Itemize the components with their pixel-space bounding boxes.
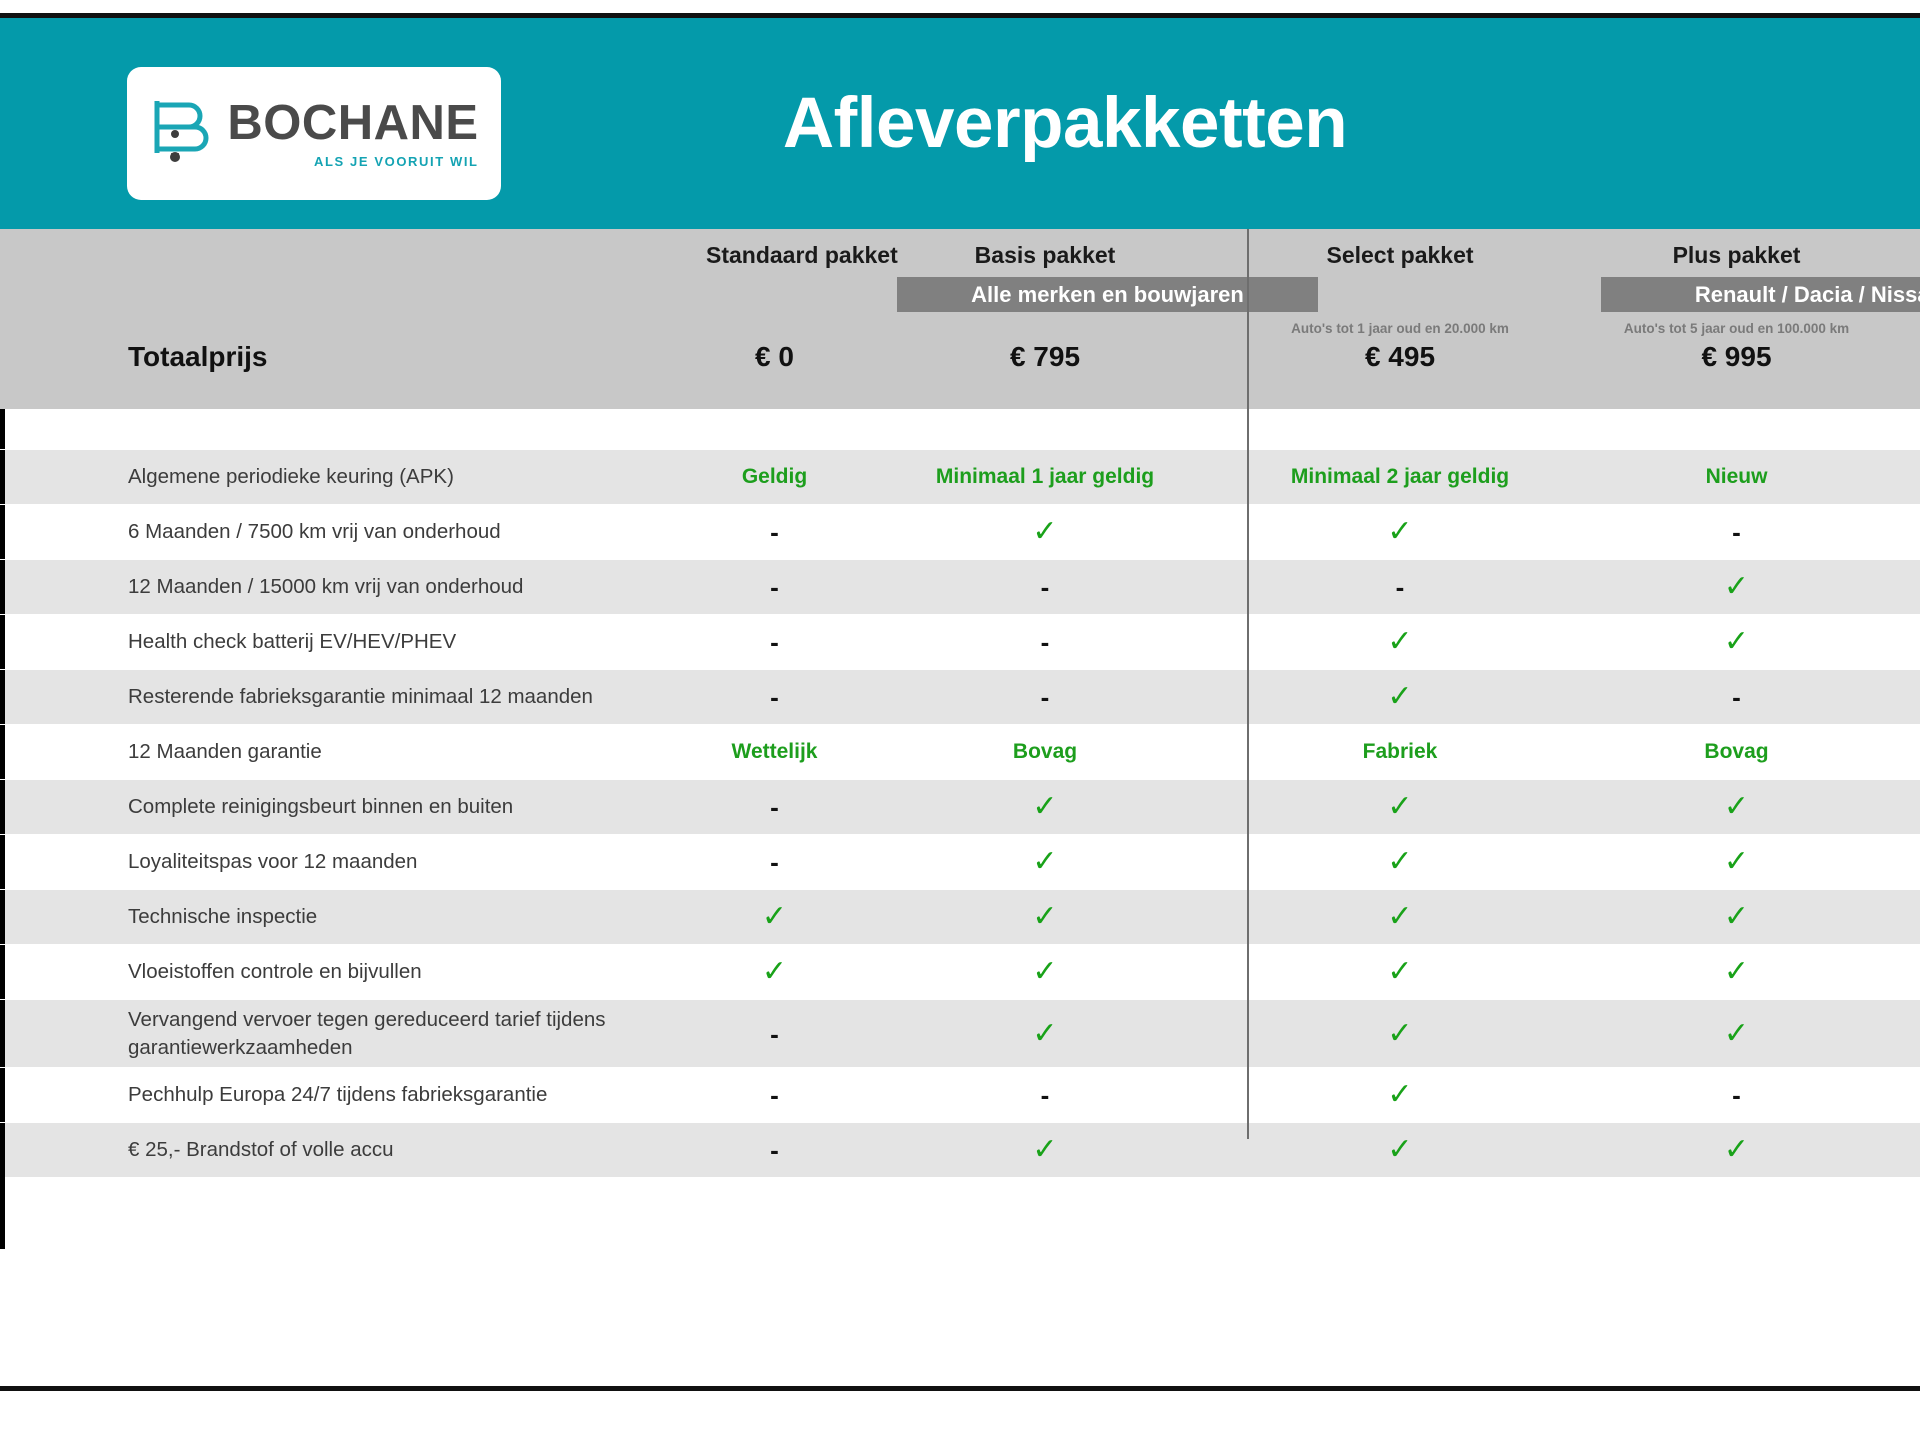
value-text: Bovag [1704,740,1768,764]
feature-value-cell: - [1247,560,1553,614]
feature-value-cell: ✓ [1553,835,1920,889]
feature-value-cell: - [706,560,843,614]
check-icon: ✓ [1387,792,1412,822]
feature-value-cell: - [1553,1068,1920,1122]
table-group-divider [1247,409,1249,1139]
feature-label: Vervangend vervoer tegen gereduceerd tar… [0,1000,706,1067]
feature-value-cell: - [843,1068,1247,1122]
left-edge-tick [0,615,5,669]
table-row: Pechhulp Europa 24/7 tijdens fabrieksgar… [0,1067,1920,1122]
feature-value-cell: ✓ [1247,945,1553,999]
check-icon: ✓ [1032,902,1057,932]
table-row: Resterende fabrieksgarantie minimaal 12 … [0,669,1920,724]
feature-value-cell: ✓ [843,890,1247,944]
feature-value-cell: ✓ [1553,780,1920,834]
value-text: Bovag [1013,740,1077,764]
feature-value-cell: ✓ [1553,615,1920,669]
feature-label: Pechhulp Europa 24/7 tijdens fabrieksgar… [0,1068,706,1122]
check-icon: ✓ [1032,957,1057,987]
left-edge-tick [0,780,5,834]
dash-icon: - [1041,629,1050,655]
check-icon: ✓ [1724,957,1749,987]
age-note-plus: Auto's tot 5 jaar oud en 100.000 km [1553,321,1920,336]
table-row: Algemene periodieke keuring (APK)GeldigM… [0,449,1920,504]
dash-icon: - [1732,684,1741,710]
feature-value-cell: - [706,780,843,834]
column-header-plus: Plus pakket Renault / Dacia / Nissan / M… [1553,229,1920,409]
feature-value-cell: Bovag [1553,725,1920,779]
feature-value-cell: - [706,670,843,724]
left-edge-tick [0,670,5,724]
value-text: Wettelijk [732,740,818,764]
feature-value-cell: Geldig [706,450,843,504]
feature-value-cell: ✓ [1553,890,1920,944]
table-row: Loyaliteitspas voor 12 maanden-✓✓✓ [0,834,1920,889]
check-icon: ✓ [1387,682,1412,712]
check-icon: ✓ [1724,572,1749,602]
check-icon: ✓ [1724,1019,1749,1049]
check-icon: ✓ [1032,1019,1057,1049]
total-price-label: Totaalprijs [128,341,268,373]
bochane-wordmark: BOCHANE ALS JE VOORUIT WIL [227,99,478,169]
feature-value-cell: ✓ [706,890,843,944]
dash-icon: - [770,794,779,820]
feature-value-cell: ✓ [1553,1000,1920,1067]
feature-label: Resterende fabrieksgarantie minimaal 12 … [0,670,706,724]
check-icon: ✓ [1387,847,1412,877]
dash-icon: - [770,1082,779,1108]
check-icon: ✓ [1387,902,1412,932]
check-icon: ✓ [1724,627,1749,657]
table-row: Vervangend vervoer tegen gereduceerd tar… [0,999,1920,1067]
dash-icon: - [770,684,779,710]
feature-value-cell: Minimaal 2 jaar geldig [1247,450,1553,504]
feature-label: 12 Maanden / 15000 km vrij van onderhoud [0,560,706,614]
header-label-cell: Totaalprijs [0,229,706,409]
feature-value-cell: ✓ [843,835,1247,889]
feature-value-cell: ✓ [843,1000,1247,1067]
table-top-spacer [0,409,1920,449]
check-icon: ✓ [1724,902,1749,932]
feature-value-cell: Bovag [843,725,1247,779]
dash-icon: - [1732,1082,1741,1108]
afleverpakketten-sheet: Afleverpakketten BOCHANE ALS JE VOORUIT … [0,0,1920,1440]
price-standaard: € 0 [706,341,843,373]
price-basis: € 795 [843,341,1247,373]
feature-label: Loyaliteitspas voor 12 maanden [0,835,706,889]
left-edge-tick [0,409,5,449]
feature-label: Algemene periodieke keuring (APK) [0,450,706,504]
left-edge-tick [0,1000,5,1067]
feature-value-cell: ✓ [1553,945,1920,999]
dash-icon: - [1732,519,1741,545]
left-edge-tick [0,505,5,559]
left-edge-tick [0,945,5,999]
dash-icon: - [1041,1082,1050,1108]
check-icon: ✓ [762,957,787,987]
comparison-table: Algemene periodieke keuring (APK)GeldigM… [0,409,1920,1249]
check-icon: ✓ [1724,1135,1749,1165]
feature-value-cell: ✓ [843,945,1247,999]
left-edge-tick [0,1177,5,1249]
feature-value-cell: - [706,1000,843,1067]
feature-value-cell: - [843,615,1247,669]
feature-value-cell: ✓ [1247,890,1553,944]
check-icon: ✓ [1724,792,1749,822]
bottom-rule [0,1386,1920,1391]
dash-icon: - [770,1137,779,1163]
column-header-band: Totaalprijs Standaard pakket € 0 Basis p… [0,229,1920,409]
left-edge-tick [0,725,5,779]
value-text: Minimaal 2 jaar geldig [1291,465,1509,489]
value-text: Minimaal 1 jaar geldig [936,465,1154,489]
feature-value-cell: Wettelijk [706,725,843,779]
feature-value-cell: ✓ [1247,670,1553,724]
check-icon: ✓ [1032,847,1057,877]
left-edge-tick [0,560,5,614]
check-icon: ✓ [1387,1019,1412,1049]
feature-label: Technische inspectie [0,890,706,944]
package-name-standaard: Standaard pakket [706,242,843,269]
column-header-standaard: Standaard pakket € 0 [706,229,843,409]
feature-value-cell: - [1553,505,1920,559]
table-bottom-spacer [0,1177,1920,1249]
table-row: € 25,- Brandstof of volle accu-✓✓✓ [0,1122,1920,1177]
feature-value-cell: ✓ [843,505,1247,559]
feature-value-cell: Nieuw [1553,450,1920,504]
package-name-plus: Plus pakket [1553,242,1920,269]
check-icon: ✓ [1387,1080,1412,1110]
feature-value-cell: Minimaal 1 jaar geldig [843,450,1247,504]
package-name-basis: Basis pakket [843,242,1247,269]
table-row: 6 Maanden / 7500 km vrij van onderhoud-✓… [0,504,1920,559]
feature-label: Vloeistoffen controle en bijvullen [0,945,706,999]
dash-icon: - [1041,684,1050,710]
feature-value-cell: - [706,1123,843,1177]
table-row: 12 Maanden garantieWettelijkBovagFabriek… [0,724,1920,779]
feature-value-cell: - [706,1068,843,1122]
feature-value-cell: ✓ [1553,1123,1920,1177]
header-group-divider [1247,229,1249,409]
table-row: 12 Maanden / 15000 km vrij van onderhoud… [0,559,1920,614]
left-edge-tick [0,1068,5,1122]
dash-icon: - [770,849,779,875]
feature-value-cell: - [843,560,1247,614]
feature-value-cell: ✓ [1247,1123,1553,1177]
table-row: Health check batterij EV/HEV/PHEV--✓✓ [0,614,1920,669]
age-note-select: Auto's tot 1 jaar oud en 20.000 km [1247,321,1553,336]
value-text: Fabriek [1363,740,1438,764]
feature-value-cell: ✓ [706,945,843,999]
page-header: Afleverpakketten BOCHANE ALS JE VOORUIT … [0,18,1920,229]
check-icon: ✓ [1387,957,1412,987]
feature-value-cell: ✓ [1247,1000,1553,1067]
table-row: Vloeistoffen controle en bijvullen✓✓✓✓ [0,944,1920,999]
feature-label: Health check batterij EV/HEV/PHEV [0,615,706,669]
dash-icon: - [770,574,779,600]
price-plus: € 995 [1553,341,1920,373]
bochane-logo: BOCHANE ALS JE VOORUIT WIL [127,67,501,200]
bochane-b-mark-icon [149,95,215,173]
check-icon: ✓ [1387,517,1412,547]
feature-value-cell: ✓ [843,1123,1247,1177]
feature-value-cell: - [706,505,843,559]
check-icon: ✓ [1032,792,1057,822]
feature-value-cell: ✓ [1247,615,1553,669]
table-row: Complete reinigingsbeurt binnen en buite… [0,779,1920,834]
feature-value-cell: - [706,835,843,889]
column-header-basis: Basis pakket Alle merken en bouwjaren € … [843,229,1247,409]
feature-value-cell: ✓ [1247,835,1553,889]
dash-icon: - [1396,574,1405,600]
value-text: Geldig [742,465,807,489]
left-edge-tick [0,450,5,504]
price-select: € 495 [1247,341,1553,373]
feature-value-cell: ✓ [843,780,1247,834]
feature-value-cell: Fabriek [1247,725,1553,779]
check-icon: ✓ [1032,1135,1057,1165]
logo-tagline: ALS JE VOORUIT WIL [314,154,479,169]
package-name-select: Select pakket [1247,242,1553,269]
left-edge-tick [0,890,5,944]
feature-value-cell: ✓ [1247,780,1553,834]
feature-label: 12 Maanden garantie [0,725,706,779]
feature-label: 6 Maanden / 7500 km vrij van onderhoud [0,505,706,559]
table-row: Technische inspectie✓✓✓✓ [0,889,1920,944]
value-text: Nieuw [1706,465,1768,489]
dash-icon: - [770,629,779,655]
check-icon: ✓ [1032,517,1057,547]
check-icon: ✓ [1387,627,1412,657]
feature-label: Complete reinigingsbeurt binnen en buite… [0,780,706,834]
brand-bar-right: Renault / Dacia / Nissan / Mitsubishi [1601,277,1920,312]
check-icon: ✓ [1387,1135,1412,1165]
logo-word: BOCHANE [227,99,478,148]
check-icon: ✓ [1724,847,1749,877]
feature-value-cell: - [706,615,843,669]
dash-icon: - [770,1021,779,1047]
feature-value-cell: - [1553,670,1920,724]
left-edge-tick [0,835,5,889]
feature-value-cell: ✓ [1247,1068,1553,1122]
dash-icon: - [1041,574,1050,600]
column-header-select: Select pakket Auto's tot 1 jaar oud en 2… [1247,229,1553,409]
feature-value-cell: ✓ [1247,505,1553,559]
feature-label: € 25,- Brandstof of volle accu [0,1123,706,1177]
feature-value-cell: - [843,670,1247,724]
feature-value-cell: ✓ [1553,560,1920,614]
check-icon: ✓ [762,902,787,932]
dash-icon: - [770,519,779,545]
left-edge-tick [0,1123,5,1177]
